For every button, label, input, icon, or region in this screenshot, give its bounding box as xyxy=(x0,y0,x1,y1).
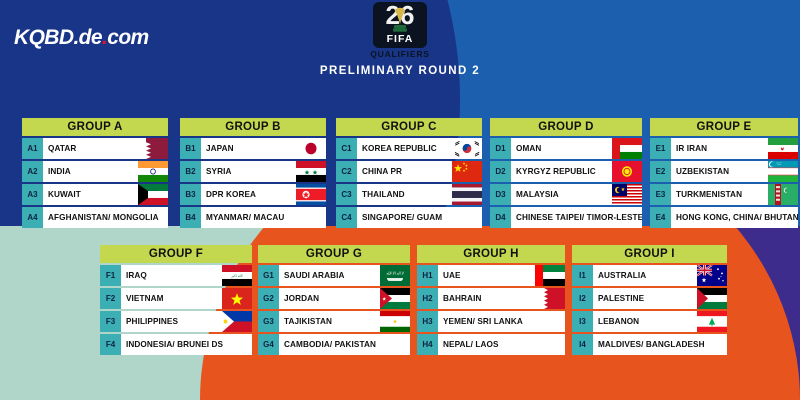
team-name: CAMBODIA/ PAKISTAN xyxy=(279,340,376,349)
team-name: UZBEKISTAN xyxy=(671,167,729,176)
team-row-body: MYANMAR/ MACAU xyxy=(201,207,326,228)
flag-icon-jordan xyxy=(380,288,410,309)
team-code-badge: A3 xyxy=(22,184,43,205)
team-row-body: KOREA REPUBLIC xyxy=(357,138,482,159)
logo-sub: .de xyxy=(73,26,102,49)
team-name: OMAN xyxy=(511,144,541,153)
team-row-body: AUSTRALIA xyxy=(593,265,727,286)
svg-text:الله اكبر: الله اكبر xyxy=(230,274,242,278)
team-row: F4INDONESIA/ BRUNEI DS xyxy=(100,334,252,355)
flag-icon-kuwait xyxy=(138,184,168,205)
group-title: GROUP D xyxy=(490,118,642,136)
team-row: C2CHINA PR xyxy=(336,161,482,182)
flag-icon-australia xyxy=(697,265,727,286)
team-row-body: LEBANON xyxy=(593,311,727,332)
team-code-badge: C3 xyxy=(336,184,357,205)
team-name: SYRIA xyxy=(201,167,232,176)
team-row-body: JORDAN xyxy=(279,288,410,309)
round-title: PRELIMINARY ROUND 2 xyxy=(320,65,480,77)
team-name: MALDIVES/ BANGLADESH xyxy=(593,340,705,349)
team-row: C4SINGAPORE/ GUAM xyxy=(336,207,482,228)
team-row: G4CAMBODIA/ PAKISTAN xyxy=(258,334,410,355)
team-row-body: PALESTINE xyxy=(593,288,727,309)
group-card: GROUP II1AUSTRALIAI2PALESTINEI3LEBANONI4… xyxy=(572,245,727,355)
group-title: GROUP E xyxy=(650,118,798,136)
team-row: E3TURKMENISTAN xyxy=(650,184,798,205)
svg-text:FIFA: FIFA xyxy=(387,33,414,45)
team-name: KOREA REPUBLIC xyxy=(357,144,437,153)
team-code-badge: F4 xyxy=(100,334,121,355)
group-title: GROUP G xyxy=(258,245,410,263)
site-logo[interactable]: KQBD.de.com xyxy=(14,26,149,50)
team-code-badge: E1 xyxy=(650,138,671,159)
team-code-badge: D4 xyxy=(490,207,511,228)
team-name: JAPAN xyxy=(201,144,234,153)
team-name: UAE xyxy=(438,271,461,280)
team-code-badge: I3 xyxy=(572,311,593,332)
svg-text:لا اله الا الله: لا اله الا الله xyxy=(386,270,403,275)
team-code-badge: H4 xyxy=(417,334,438,355)
team-name: NEPAL/ LAOS xyxy=(438,340,499,349)
qualifier-draw-graphic: KQBD.de.com 26 FIFA QUALIFIERS PRELIMINA… xyxy=(0,0,800,400)
team-row-body: OMAN xyxy=(511,138,642,159)
group-card: GROUP HH1UAEH2BAHRAINH3YEMEN/ SRI LANKAH… xyxy=(417,245,565,355)
team-row-body: QATAR xyxy=(43,138,168,159)
team-row-body: TAJIKISTAN xyxy=(279,311,410,332)
team-row-body: VIETNAM xyxy=(121,288,252,309)
team-name: INDIA xyxy=(43,167,71,176)
team-row-body: THAILAND xyxy=(357,184,482,205)
team-code-badge: G1 xyxy=(258,265,279,286)
team-name: CHINESE TAIPEI/ TIMOR-LESTE xyxy=(511,213,642,222)
team-name: PALESTINE xyxy=(593,294,644,303)
flag-icon-kyrgyzstan xyxy=(612,161,642,182)
flag-icon-bahrain xyxy=(535,288,565,309)
team-name: DPR KOREA xyxy=(201,190,256,199)
team-row: B3DPR KOREA xyxy=(180,184,326,205)
team-code-badge: C4 xyxy=(336,207,357,228)
group-title: GROUP A xyxy=(22,118,168,136)
team-row: C1KOREA REPUBLIC xyxy=(336,138,482,159)
team-row-body: UAE xyxy=(438,265,565,286)
team-row-body: HONG KONG, CHINA/ BHUTAN xyxy=(671,207,798,228)
team-row-body: SYRIA xyxy=(201,161,326,182)
team-row-body: NEPAL/ LAOS xyxy=(438,334,565,355)
team-code-badge: B2 xyxy=(180,161,201,182)
team-row: E4HONG KONG, CHINA/ BHUTAN xyxy=(650,207,798,228)
team-row-body: SAUDI ARABIAلا اله الا الله xyxy=(279,265,410,286)
team-code-badge: G2 xyxy=(258,288,279,309)
team-code-badge: B3 xyxy=(180,184,201,205)
group-card: GROUP GG1SAUDI ARABIAلا اله الا اللهG2JO… xyxy=(258,245,410,355)
group-card: GROUP EE1IR IRANE2UZBEKISTANE3TURKMENIST… xyxy=(650,118,798,228)
team-row-body: UZBEKISTAN xyxy=(671,161,798,182)
team-code-badge: D1 xyxy=(490,138,511,159)
team-row: I3LEBANON xyxy=(572,311,727,332)
flag-icon-korea-republic xyxy=(452,138,482,159)
team-row-body: YEMEN/ SRI LANKA xyxy=(438,311,565,332)
team-row: B1JAPAN xyxy=(180,138,326,159)
team-row-body: IRAQالله اكبر xyxy=(121,265,252,286)
flag-icon-uae xyxy=(535,265,565,286)
flag-icon-turkmenistan xyxy=(768,184,798,205)
group-card: GROUP CC1KOREA REPUBLICC2CHINA PRC3THAIL… xyxy=(336,118,482,228)
team-code-badge: D2 xyxy=(490,161,511,182)
team-code-badge: A2 xyxy=(22,161,43,182)
team-row: D2KYRGYZ REPUBLIC xyxy=(490,161,642,182)
team-row-body: AFGHANISTAN/ MONGOLIA xyxy=(43,207,168,228)
flag-icon-syria xyxy=(296,161,326,182)
team-row-body: JAPAN xyxy=(201,138,326,159)
team-code-badge: I2 xyxy=(572,288,593,309)
team-code-badge: E4 xyxy=(650,207,671,228)
team-row-body: DPR KOREA xyxy=(201,184,326,205)
flag-icon-iraq: الله اكبر xyxy=(222,265,252,286)
team-row: H1UAE xyxy=(417,265,565,286)
team-code-badge: B4 xyxy=(180,207,201,228)
team-code-badge: B1 xyxy=(180,138,201,159)
team-row: A3KUWAIT xyxy=(22,184,168,205)
team-name: HONG KONG, CHINA/ BHUTAN xyxy=(671,213,798,222)
flag-icon-malaysia xyxy=(612,184,642,205)
flag-icon-oman xyxy=(612,138,642,159)
team-name: PHILIPPINES xyxy=(121,317,178,326)
flag-icon-philippines xyxy=(222,311,252,332)
flag-icon-china xyxy=(452,161,482,182)
flag-icon-uzbekistan xyxy=(768,161,798,182)
logo-main: KQBD xyxy=(14,26,73,49)
group-title: GROUP C xyxy=(336,118,482,136)
fifa-qualifiers-logo: 26 FIFA QUALIFIERS xyxy=(361,2,439,64)
team-row-body: TURKMENISTAN xyxy=(671,184,798,205)
team-code-badge: H2 xyxy=(417,288,438,309)
team-row-body: INDIA xyxy=(43,161,168,182)
team-code-badge: H1 xyxy=(417,265,438,286)
team-name: TAJIKISTAN xyxy=(279,317,332,326)
team-code-badge: I1 xyxy=(572,265,593,286)
team-row: G2JORDAN xyxy=(258,288,410,309)
fifa-logo-svg: 26 FIFA QUALIFIERS xyxy=(361,2,439,64)
flag-icon-iran xyxy=(768,138,798,159)
group-card: GROUP BB1JAPANB2SYRIAB3DPR KOREAB4MYANMA… xyxy=(180,118,326,228)
team-row: G1SAUDI ARABIAلا اله الا الله xyxy=(258,265,410,286)
team-code-badge: C1 xyxy=(336,138,357,159)
team-row: F2VIETNAM xyxy=(100,288,252,309)
flag-icon-palestine xyxy=(697,288,727,309)
team-row-body: CHINA PR xyxy=(357,161,482,182)
team-code-badge: I4 xyxy=(572,334,593,355)
team-name: YEMEN/ SRI LANKA xyxy=(438,317,523,326)
team-code-badge: H3 xyxy=(417,311,438,332)
team-code-badge: C2 xyxy=(336,161,357,182)
team-name: SAUDI ARABIA xyxy=(279,271,344,280)
team-row: D3MALAYSIA xyxy=(490,184,642,205)
team-code-badge: A4 xyxy=(22,207,43,228)
team-code-badge: D3 xyxy=(490,184,511,205)
team-code-badge: F1 xyxy=(100,265,121,286)
group-card: GROUP DD1OMAND2KYRGYZ REPUBLICD3MALAYSIA… xyxy=(490,118,642,228)
team-name: THAILAND xyxy=(357,190,405,199)
team-row-body: MALAYSIA xyxy=(511,184,642,205)
group-card: GROUP FF1IRAQالله اكبرF2VIETNAMF3PHILIPP… xyxy=(100,245,252,355)
team-name: INDONESIA/ BRUNEI DS xyxy=(121,340,223,349)
team-row: D1OMAN xyxy=(490,138,642,159)
team-code-badge: G3 xyxy=(258,311,279,332)
team-row-body: CAMBODIA/ PAKISTAN xyxy=(279,334,410,355)
team-row: H2BAHRAIN xyxy=(417,288,565,309)
team-row: C3THAILAND xyxy=(336,184,482,205)
team-row-body: PHILIPPINES xyxy=(121,311,252,332)
team-code-badge: F3 xyxy=(100,311,121,332)
team-row: H4NEPAL/ LAOS xyxy=(417,334,565,355)
team-row: A1QATAR xyxy=(22,138,168,159)
flag-icon-japan xyxy=(296,138,326,159)
team-name: QATAR xyxy=(43,144,76,153)
team-row-body: INDONESIA/ BRUNEI DS xyxy=(121,334,252,355)
team-row-body: IR IRAN xyxy=(671,138,798,159)
team-row: G3TAJIKISTAN xyxy=(258,311,410,332)
team-name: MYANMAR/ MACAU xyxy=(201,213,284,222)
team-code-badge: A1 xyxy=(22,138,43,159)
team-name: BAHRAIN xyxy=(438,294,481,303)
team-row-body: BAHRAIN xyxy=(438,288,565,309)
team-row: A4AFGHANISTAN/ MONGOLIA xyxy=(22,207,168,228)
team-name: JORDAN xyxy=(279,294,319,303)
group-title: GROUP I xyxy=(572,245,727,263)
team-code-badge: E2 xyxy=(650,161,671,182)
flag-icon-india xyxy=(138,161,168,182)
team-name: AFGHANISTAN/ MONGOLIA xyxy=(43,213,159,222)
team-name: LEBANON xyxy=(593,317,639,326)
logo-tld: com xyxy=(107,26,148,49)
flag-icon-vietnam xyxy=(222,288,252,309)
svg-text:QUALIFIERS: QUALIFIERS xyxy=(370,49,429,59)
team-row: H3YEMEN/ SRI LANKA xyxy=(417,311,565,332)
team-name: AUSTRALIA xyxy=(593,271,646,280)
flag-icon-thailand xyxy=(452,184,482,205)
team-row: F3PHILIPPINES xyxy=(100,311,252,332)
group-title: GROUP B xyxy=(180,118,326,136)
flag-icon-tajikistan xyxy=(380,311,410,332)
team-name: IR IRAN xyxy=(671,144,707,153)
team-name: KYRGYZ REPUBLIC xyxy=(511,167,596,176)
team-name: SINGAPORE/ GUAM xyxy=(357,213,442,222)
team-row: I4MALDIVES/ BANGLADESH xyxy=(572,334,727,355)
team-name: TURKMENISTAN xyxy=(671,190,742,199)
team-row: B2SYRIA xyxy=(180,161,326,182)
flag-icon-lebanon xyxy=(697,311,727,332)
team-code-badge: G4 xyxy=(258,334,279,355)
team-row-body: KUWAIT xyxy=(43,184,168,205)
team-row: D4CHINESE TAIPEI/ TIMOR-LESTE xyxy=(490,207,642,228)
team-row: E2UZBEKISTAN xyxy=(650,161,798,182)
team-row-body: MALDIVES/ BANGLADESH xyxy=(593,334,727,355)
team-row: E1IR IRAN xyxy=(650,138,798,159)
team-row: B4MYANMAR/ MACAU xyxy=(180,207,326,228)
flag-icon-dpr-korea xyxy=(296,184,326,205)
team-code-badge: F2 xyxy=(100,288,121,309)
team-code-badge: E3 xyxy=(650,184,671,205)
team-row: F1IRAQالله اكبر xyxy=(100,265,252,286)
flag-icon-qatar xyxy=(138,138,168,159)
team-row: A2INDIA xyxy=(22,161,168,182)
team-row: I2PALESTINE xyxy=(572,288,727,309)
group-title: GROUP F xyxy=(100,245,252,263)
flag-icon-saudi-arabia: لا اله الا الله xyxy=(380,265,410,286)
team-name: MALAYSIA xyxy=(511,190,559,199)
team-name: IRAQ xyxy=(121,271,147,280)
team-row-body: SINGAPORE/ GUAM xyxy=(357,207,482,228)
team-row: I1AUSTRALIA xyxy=(572,265,727,286)
team-name: KUWAIT xyxy=(43,190,81,199)
team-name: CHINA PR xyxy=(357,167,402,176)
team-row-body: KYRGYZ REPUBLIC xyxy=(511,161,642,182)
team-name: VIETNAM xyxy=(121,294,164,303)
group-card: GROUP AA1QATARA2INDIAA3KUWAITA4AFGHANIST… xyxy=(22,118,168,228)
team-row-body: CHINESE TAIPEI/ TIMOR-LESTE xyxy=(511,207,642,228)
group-title: GROUP H xyxy=(417,245,565,263)
